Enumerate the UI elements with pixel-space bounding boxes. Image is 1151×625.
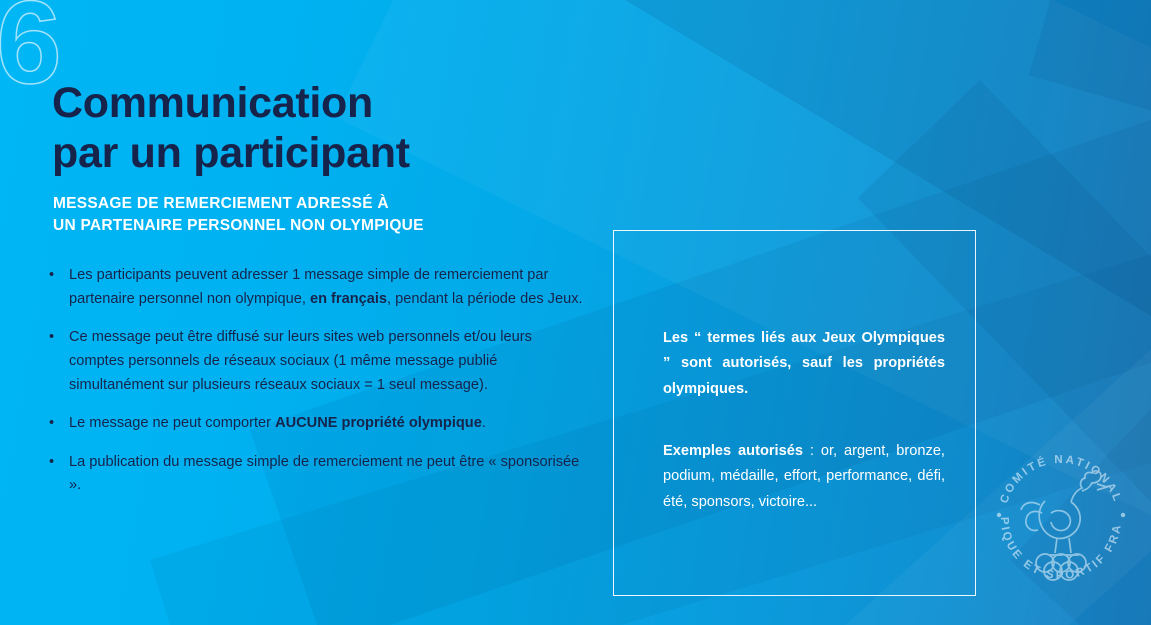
bullet-marker-icon: • bbox=[49, 451, 54, 475]
page-title: Communication par un participant bbox=[52, 79, 672, 179]
bullet-text-emphasis: en français bbox=[310, 291, 387, 307]
bullet-text-run: , pendant la période des Jeux. bbox=[387, 291, 583, 307]
bullet-item: •La publication du message simple de rem… bbox=[44, 451, 584, 498]
bullet-item: •Ce message peut être diffusé sur leurs … bbox=[44, 326, 584, 397]
callout-lead-text: Les “ termes liés aux Jeux Olympiques ” … bbox=[663, 326, 945, 403]
bullet-text: La publication du message simple de reme… bbox=[69, 454, 579, 494]
bullet-marker-icon: • bbox=[49, 264, 54, 288]
bullet-text: Le message ne peut comporter AUCUNE prop… bbox=[69, 415, 486, 431]
bullet-text-run: La publication du message simple de reme… bbox=[69, 454, 579, 494]
facet-shape bbox=[1029, 0, 1151, 158]
page-title-line: Communication bbox=[52, 79, 672, 129]
bullet-marker-icon: • bbox=[49, 412, 54, 436]
slide: 6 Communication par un participant MESSA… bbox=[0, 0, 1151, 625]
page-subtitle-line: MESSAGE DE REMERCIEMENT ADRESSÉ À bbox=[53, 193, 673, 215]
bullet-text-run: Ce message peut être diffusé sur leurs s… bbox=[69, 329, 532, 392]
page-title-line: par un participant bbox=[52, 129, 672, 179]
bullet-item: •Le message ne peut comporter AUCUNE pro… bbox=[44, 412, 584, 436]
logo-text-top: COMITÉ NATIONAL bbox=[998, 454, 1123, 505]
bullet-marker-icon: • bbox=[49, 326, 54, 350]
bullet-text: Ce message peut être diffusé sur leurs s… bbox=[69, 329, 532, 392]
cnosf-logo: COMITÉ NATIONAL OLYMPIQUE ET SPORTIF FRA… bbox=[985, 443, 1137, 595]
bullet-list: •Les participants peuvent adresser 1 mes… bbox=[44, 264, 584, 498]
callout-examples-label: Exemples autorisés bbox=[663, 443, 803, 459]
bullet-text-run: . bbox=[482, 415, 486, 431]
page-subtitle-line: UN PARTENAIRE PERSONNEL NON OLYMPIQUE bbox=[53, 215, 673, 237]
bullet-text-run: Le message ne peut comporter bbox=[69, 415, 275, 431]
bullet-text: Les participants peuvent adresser 1 mess… bbox=[69, 267, 583, 307]
bullet-text-emphasis: AUCUNE propriété olympique bbox=[275, 415, 482, 431]
bullet-item: •Les participants peuvent adresser 1 mes… bbox=[44, 264, 584, 311]
callout-box: Les “ termes liés aux Jeux Olympiques ” … bbox=[613, 230, 976, 596]
callout-examples-text: Exemples autorisés : or, argent, bronze,… bbox=[663, 439, 945, 516]
page-subtitle: MESSAGE DE REMERCIEMENT ADRESSÉ À UN PAR… bbox=[53, 193, 673, 237]
